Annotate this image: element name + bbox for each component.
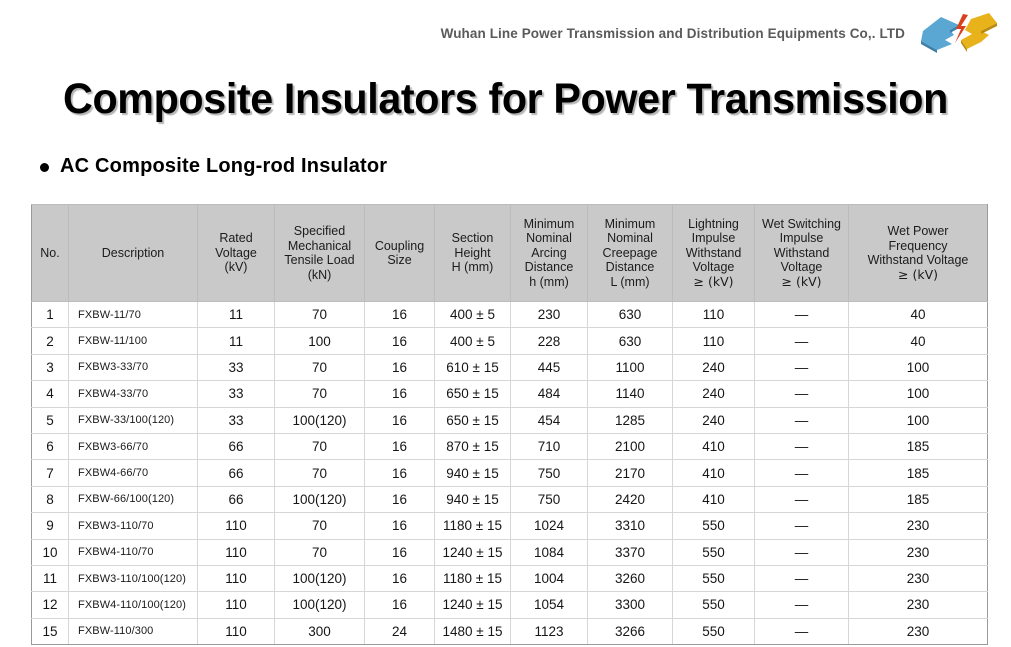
table-row: 5FXBW-33/100(120)33100(120)16650 ± 15454… <box>32 407 988 433</box>
cell-height: 870 ± 15 <box>435 433 511 459</box>
cell-coupling: 16 <box>365 486 435 512</box>
cell-wetswitch: — <box>755 354 849 380</box>
cell-rated: 110 <box>198 592 275 618</box>
cell-no: 8 <box>32 486 69 512</box>
table-row: 9FXBW3-110/7011070161180 ± 1510243310550… <box>32 513 988 539</box>
cell-arcing: 1024 <box>511 513 588 539</box>
cell-wetswitch: — <box>755 565 849 591</box>
cell-creepage: 2420 <box>588 486 673 512</box>
column-header-line: Arcing <box>514 246 584 261</box>
cell-wetpower: 100 <box>849 354 988 380</box>
cell-smtl: 100(120) <box>275 486 365 512</box>
column-header-line: Withstand <box>676 246 751 261</box>
cell-desc: FXBW3-33/70 <box>69 354 198 380</box>
cell-desc: FXBW4-33/70 <box>69 381 198 407</box>
cell-desc: FXBW-66/100(120) <box>69 486 198 512</box>
company-name: Wuhan Line Power Transmission and Distri… <box>441 26 905 41</box>
column-header-line: Height <box>438 246 507 261</box>
cell-creepage: 2100 <box>588 433 673 459</box>
cell-height: 650 ± 15 <box>435 407 511 433</box>
company-logo-icon <box>919 9 999 55</box>
cell-creepage: 3260 <box>588 565 673 591</box>
cell-no: 3 <box>32 354 69 380</box>
cell-wetswitch: — <box>755 460 849 486</box>
column-header-creepage: MinimumNominalCreepageDistanceL (mm) <box>588 205 673 302</box>
cell-height: 940 ± 15 <box>435 486 511 512</box>
cell-smtl: 100(120) <box>275 407 365 433</box>
table-row: 2FXBW-11/1001110016400 ± 5228630110—40 <box>32 328 988 354</box>
cell-no: 11 <box>32 565 69 591</box>
cell-wetswitch: — <box>755 302 849 328</box>
cell-desc: FXBW4-110/100(120) <box>69 592 198 618</box>
cell-coupling: 16 <box>365 539 435 565</box>
cell-wetswitch: — <box>755 381 849 407</box>
cell-arcing: 750 <box>511 460 588 486</box>
cell-desc: FXBW4-66/70 <box>69 460 198 486</box>
column-header-line: Mechanical <box>278 239 361 254</box>
cell-height: 1480 ± 15 <box>435 618 511 644</box>
cell-coupling: 16 <box>365 354 435 380</box>
cell-wetpower: 230 <box>849 513 988 539</box>
cell-wetpower: 230 <box>849 618 988 644</box>
cell-height: 400 ± 5 <box>435 328 511 354</box>
cell-lightning: 410 <box>673 460 755 486</box>
cell-height: 650 ± 15 <box>435 381 511 407</box>
cell-smtl: 100(120) <box>275 565 365 591</box>
cell-lightning: 550 <box>673 513 755 539</box>
table-row: 1FXBW-11/70117016400 ± 5230630110—40 <box>32 302 988 328</box>
cell-coupling: 16 <box>365 513 435 539</box>
cell-coupling: 16 <box>365 302 435 328</box>
cell-desc: FXBW4-110/70 <box>69 539 198 565</box>
header-row: No.DescriptionRatedVoltage(kV)SpecifiedM… <box>32 205 988 302</box>
bullet-dot-icon <box>40 163 49 172</box>
cell-wetswitch: — <box>755 539 849 565</box>
column-header-line: Lightning <box>676 217 751 232</box>
cell-desc: FXBW3-66/70 <box>69 433 198 459</box>
cell-wetpower: 100 <box>849 407 988 433</box>
cell-arcing: 1054 <box>511 592 588 618</box>
cell-wetpower: 230 <box>849 592 988 618</box>
cell-creepage: 3300 <box>588 592 673 618</box>
table-row: 8FXBW-66/100(120)66100(120)16940 ± 15750… <box>32 486 988 512</box>
cell-arcing: 1123 <box>511 618 588 644</box>
cell-rated: 110 <box>198 513 275 539</box>
cell-no: 15 <box>32 618 69 644</box>
cell-arcing: 445 <box>511 354 588 380</box>
cell-desc: FXBW3-110/70 <box>69 513 198 539</box>
cell-smtl: 70 <box>275 513 365 539</box>
cell-creepage: 630 <box>588 302 673 328</box>
cell-smtl: 70 <box>275 381 365 407</box>
table-row: 12FXBW4-110/100(120)110100(120)161240 ± … <box>32 592 988 618</box>
cell-wetpower: 185 <box>849 460 988 486</box>
cell-wetswitch: — <box>755 433 849 459</box>
column-header-line: Voltage <box>676 260 751 275</box>
cell-lightning: 240 <box>673 381 755 407</box>
cell-lightning: 410 <box>673 486 755 512</box>
cell-lightning: 410 <box>673 433 755 459</box>
cell-smtl: 70 <box>275 433 365 459</box>
column-header-arcing: MinimumNominalArcingDistanceh (mm) <box>511 205 588 302</box>
column-header-line: Frequency <box>852 239 984 254</box>
cell-desc: FXBW3-110/100(120) <box>69 565 198 591</box>
column-header-line: Wet Switching <box>758 217 845 232</box>
column-header-line: Wet Power <box>852 224 984 239</box>
cell-no: 6 <box>32 433 69 459</box>
cell-coupling: 16 <box>365 565 435 591</box>
column-header-line: L (mm) <box>591 275 669 290</box>
cell-no: 9 <box>32 513 69 539</box>
cell-arcing: 230 <box>511 302 588 328</box>
cell-smtl: 100 <box>275 328 365 354</box>
cell-lightning: 550 <box>673 592 755 618</box>
table-row: 10FXBW4-110/7011070161240 ± 151084337055… <box>32 539 988 565</box>
cell-wetpower: 100 <box>849 381 988 407</box>
column-header-line: Minimum <box>514 217 584 232</box>
cell-coupling: 16 <box>365 381 435 407</box>
column-header-line: Impulse <box>676 231 751 246</box>
cell-arcing: 1004 <box>511 565 588 591</box>
column-header-line: Voltage <box>201 246 271 261</box>
cell-no: 4 <box>32 381 69 407</box>
cell-lightning: 240 <box>673 354 755 380</box>
section-heading-label: AC Composite Long-rod Insulator <box>60 155 387 178</box>
cell-rated: 110 <box>198 539 275 565</box>
cell-rated: 33 <box>198 381 275 407</box>
column-header-line: (kN) <box>278 268 361 283</box>
spec-table-body: 1FXBW-11/70117016400 ± 5230630110—402FXB… <box>32 302 988 645</box>
cell-height: 400 ± 5 <box>435 302 511 328</box>
cell-coupling: 16 <box>365 592 435 618</box>
column-header-line: Withstand Voltage <box>852 253 984 268</box>
cell-wetpower: 40 <box>849 302 988 328</box>
column-header-wetswitch: Wet SwitchingImpulseWithstandVoltage≥ (k… <box>755 205 849 302</box>
cell-smtl: 100(120) <box>275 592 365 618</box>
cell-coupling: 24 <box>365 618 435 644</box>
cell-rated: 11 <box>198 302 275 328</box>
cell-lightning: 110 <box>673 302 755 328</box>
column-header-line: Distance <box>514 260 584 275</box>
cell-creepage: 1285 <box>588 407 673 433</box>
column-header-coupling: CouplingSize <box>365 205 435 302</box>
column-header-line: Section <box>438 231 507 246</box>
cell-smtl: 300 <box>275 618 365 644</box>
cell-desc: FXBW-11/100 <box>69 328 198 354</box>
column-header-line: Rated <box>201 231 271 246</box>
cell-arcing: 1084 <box>511 539 588 565</box>
cell-no: 1 <box>32 302 69 328</box>
cell-desc: FXBW-110/300 <box>69 618 198 644</box>
column-header-line: Creepage <box>591 246 669 261</box>
column-header-wetpower: Wet PowerFrequencyWithstand Voltage≥ (kV… <box>849 205 988 302</box>
cell-no: 12 <box>32 592 69 618</box>
spec-table: No.DescriptionRatedVoltage(kV)SpecifiedM… <box>31 204 988 645</box>
table-row: 15FXBW-110/300110300241480 ± 15112332665… <box>32 618 988 644</box>
column-header-line: Voltage <box>758 260 845 275</box>
cell-wetpower: 230 <box>849 565 988 591</box>
column-header-line: Distance <box>591 260 669 275</box>
cell-wetswitch: — <box>755 513 849 539</box>
spec-table-header: No.DescriptionRatedVoltage(kV)SpecifiedM… <box>32 205 988 302</box>
cell-lightning: 550 <box>673 565 755 591</box>
cell-no: 10 <box>32 539 69 565</box>
column-header-height: SectionHeightH (mm) <box>435 205 511 302</box>
cell-wetswitch: — <box>755 328 849 354</box>
cell-lightning: 550 <box>673 539 755 565</box>
column-header-line: Size <box>368 253 431 268</box>
table-row: 4FXBW4-33/70337016650 ± 154841140240—100 <box>32 381 988 407</box>
table-row: 6FXBW3-66/70667016870 ± 157102100410—185 <box>32 433 988 459</box>
cell-creepage: 3310 <box>588 513 673 539</box>
column-header-no: No. <box>32 205 69 302</box>
cell-lightning: 550 <box>673 618 755 644</box>
cell-smtl: 70 <box>275 460 365 486</box>
column-header-desc: Description <box>69 205 198 302</box>
cell-wetpower: 185 <box>849 486 988 512</box>
cell-arcing: 484 <box>511 381 588 407</box>
cell-desc: FXBW-11/70 <box>69 302 198 328</box>
column-header-line: Description <box>72 246 194 261</box>
cell-rated: 110 <box>198 565 275 591</box>
cell-wetpower: 185 <box>849 433 988 459</box>
cell-creepage: 3266 <box>588 618 673 644</box>
cell-creepage: 1100 <box>588 354 673 380</box>
cell-rated: 66 <box>198 460 275 486</box>
page-header-banner: Wuhan Line Power Transmission and Distri… <box>0 0 1011 62</box>
cell-arcing: 750 <box>511 486 588 512</box>
table-row: 3FXBW3-33/70337016610 ± 154451100240—100 <box>32 354 988 380</box>
table-row: 7FXBW4-66/70667016940 ± 157502170410—185 <box>32 460 988 486</box>
spec-table-container: No.DescriptionRatedVoltage(kV)SpecifiedM… <box>31 204 987 645</box>
cell-wetswitch: — <box>755 592 849 618</box>
cell-wetpower: 40 <box>849 328 988 354</box>
page-title: Composite Insulators for Power Transmiss… <box>20 72 991 126</box>
cell-height: 1180 ± 15 <box>435 513 511 539</box>
cell-arcing: 454 <box>511 407 588 433</box>
cell-wetswitch: — <box>755 486 849 512</box>
cell-no: 5 <box>32 407 69 433</box>
cell-lightning: 240 <box>673 407 755 433</box>
cell-rated: 33 <box>198 407 275 433</box>
column-header-line: Coupling <box>368 239 431 254</box>
column-header-line: Specified <box>278 224 361 239</box>
column-header-line: Impulse <box>758 231 845 246</box>
section-heading: AC Composite Long-rod Insulator <box>40 155 387 178</box>
cell-coupling: 16 <box>365 407 435 433</box>
cell-height: 940 ± 15 <box>435 460 511 486</box>
cell-rated: 110 <box>198 618 275 644</box>
cell-height: 610 ± 15 <box>435 354 511 380</box>
cell-creepage: 2170 <box>588 460 673 486</box>
column-header-line: H (mm) <box>438 260 507 275</box>
cell-no: 2 <box>32 328 69 354</box>
column-header-line: ≥ (kV) <box>676 275 751 290</box>
cell-height: 1180 ± 15 <box>435 565 511 591</box>
column-header-line: h (mm) <box>514 275 584 290</box>
cell-smtl: 70 <box>275 302 365 328</box>
cell-smtl: 70 <box>275 354 365 380</box>
column-header-line: Minimum <box>591 217 669 232</box>
cell-rated: 11 <box>198 328 275 354</box>
column-header-line: (kV) <box>201 260 271 275</box>
cell-rated: 66 <box>198 433 275 459</box>
cell-coupling: 16 <box>365 460 435 486</box>
cell-arcing: 228 <box>511 328 588 354</box>
cell-creepage: 1140 <box>588 381 673 407</box>
cell-height: 1240 ± 15 <box>435 592 511 618</box>
cell-rated: 33 <box>198 354 275 380</box>
column-header-line: ≥ (kV) <box>758 275 845 290</box>
cell-creepage: 3370 <box>588 539 673 565</box>
cell-arcing: 710 <box>511 433 588 459</box>
column-header-line: Nominal <box>514 231 584 246</box>
column-header-line: ≥ (kV) <box>852 268 984 283</box>
cell-wetpower: 230 <box>849 539 988 565</box>
cell-smtl: 70 <box>275 539 365 565</box>
table-row: 11FXBW3-110/100(120)110100(120)161180 ± … <box>32 565 988 591</box>
column-header-line: Nominal <box>591 231 669 246</box>
cell-wetswitch: — <box>755 618 849 644</box>
column-header-smtl: SpecifiedMechanicalTensile Load(kN) <box>275 205 365 302</box>
column-header-line: Withstand <box>758 246 845 261</box>
cell-no: 7 <box>32 460 69 486</box>
cell-height: 1240 ± 15 <box>435 539 511 565</box>
cell-coupling: 16 <box>365 328 435 354</box>
column-header-rated: RatedVoltage(kV) <box>198 205 275 302</box>
cell-creepage: 630 <box>588 328 673 354</box>
cell-desc: FXBW-33/100(120) <box>69 407 198 433</box>
column-header-lightning: LightningImpulseWithstandVoltage≥ (kV) <box>673 205 755 302</box>
cell-rated: 66 <box>198 486 275 512</box>
column-header-line: No. <box>35 246 65 261</box>
cell-lightning: 110 <box>673 328 755 354</box>
column-header-line: Tensile Load <box>278 253 361 268</box>
cell-coupling: 16 <box>365 433 435 459</box>
cell-wetswitch: — <box>755 407 849 433</box>
